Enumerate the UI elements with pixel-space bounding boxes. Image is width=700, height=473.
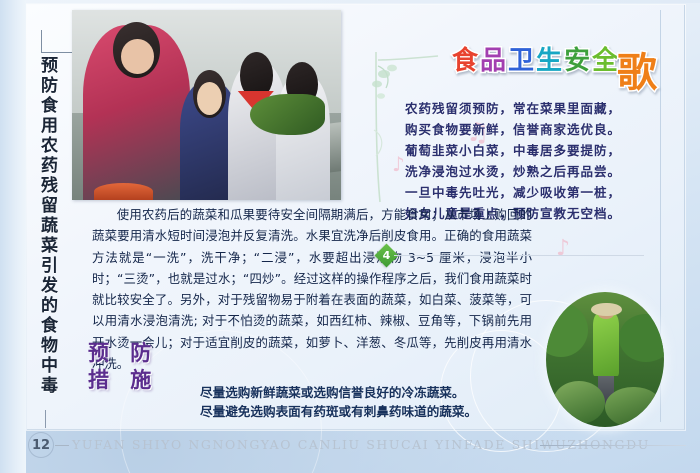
photo-bush — [546, 303, 588, 357]
photo-child-1 — [83, 25, 191, 200]
poster-headline: 食品卫生安全 — [452, 40, 620, 77]
section-divider-rule — [394, 255, 644, 256]
photo-farmer-jacket — [593, 314, 619, 376]
headline-char-6: 全 — [592, 40, 620, 77]
frame-top-rule — [0, 0, 700, 3]
photo-child-1-face — [121, 39, 153, 74]
photo-farmer-hat — [591, 303, 622, 317]
photo-students-washing-vegetables — [72, 10, 341, 200]
page-title-vertical: 预防食用农药残留蔬菜引发的食物中毒 — [34, 56, 58, 396]
prevention-measures-list: 尽量选购新鲜蔬菜或选购信誉良好的冷冻蔬菜。 尽量避免选购表面有药斑或有刺鼻药味道… — [200, 383, 560, 421]
vertical-title-tail-rule — [45, 410, 46, 428]
prevention-measures-label-line2: 措 施 — [88, 367, 184, 394]
photo-orange-basin — [94, 183, 153, 200]
headline-char-1: 食 — [452, 40, 480, 77]
prevention-measure-item: 尽量避免选购表面有药斑或有刺鼻药味道的蔬菜。 — [200, 402, 560, 421]
poem-line: 农药残留须预防，常在菜果里面藏， — [405, 98, 685, 119]
vertical-title-rule — [41, 30, 42, 52]
prevention-measure-item: 尽量选购新鲜蔬菜或选购信誉良好的冷冻蔬菜。 — [200, 383, 560, 402]
photo-leafy-vegetable — [250, 94, 325, 136]
headline-suffix-char: 歌 — [617, 40, 657, 98]
headline-char-3: 卫 — [508, 40, 536, 77]
prevention-measures-label-line1: 预 防 — [88, 340, 184, 367]
photo-cabbage — [605, 387, 662, 428]
poem-line: 购买食物要新鲜，信誉商家选优良。 — [405, 119, 685, 140]
footer-dash-rule — [55, 445, 69, 446]
poster-page: 预防食用农药残留蔬菜引发的食物中毒 — [0, 0, 700, 473]
headline-char-5: 安 — [564, 40, 592, 77]
prevention-measures-label: 预 防 措 施 — [88, 340, 184, 394]
section-number-label: 4 — [378, 247, 395, 264]
headline-char-4: 生 — [536, 40, 564, 77]
photo-cabbage — [553, 381, 605, 424]
photo-farmer-spraying-pesticide — [546, 292, 664, 427]
page-number-badge: 12 — [28, 432, 54, 458]
footer-trailing-rule — [540, 445, 686, 446]
poem-line: 洗净浸泡过水烫，炒熟之后再品尝。 — [405, 161, 685, 182]
frame-left-band — [0, 0, 26, 473]
poem-line: 葡萄韭菜小白菜，中毒居多要提防， — [405, 140, 685, 161]
headline-char-2: 品 — [480, 40, 508, 77]
photo-bush — [619, 314, 664, 363]
poem-line: 一旦中毒先吐光，减少吸收第一桩， — [405, 182, 685, 203]
